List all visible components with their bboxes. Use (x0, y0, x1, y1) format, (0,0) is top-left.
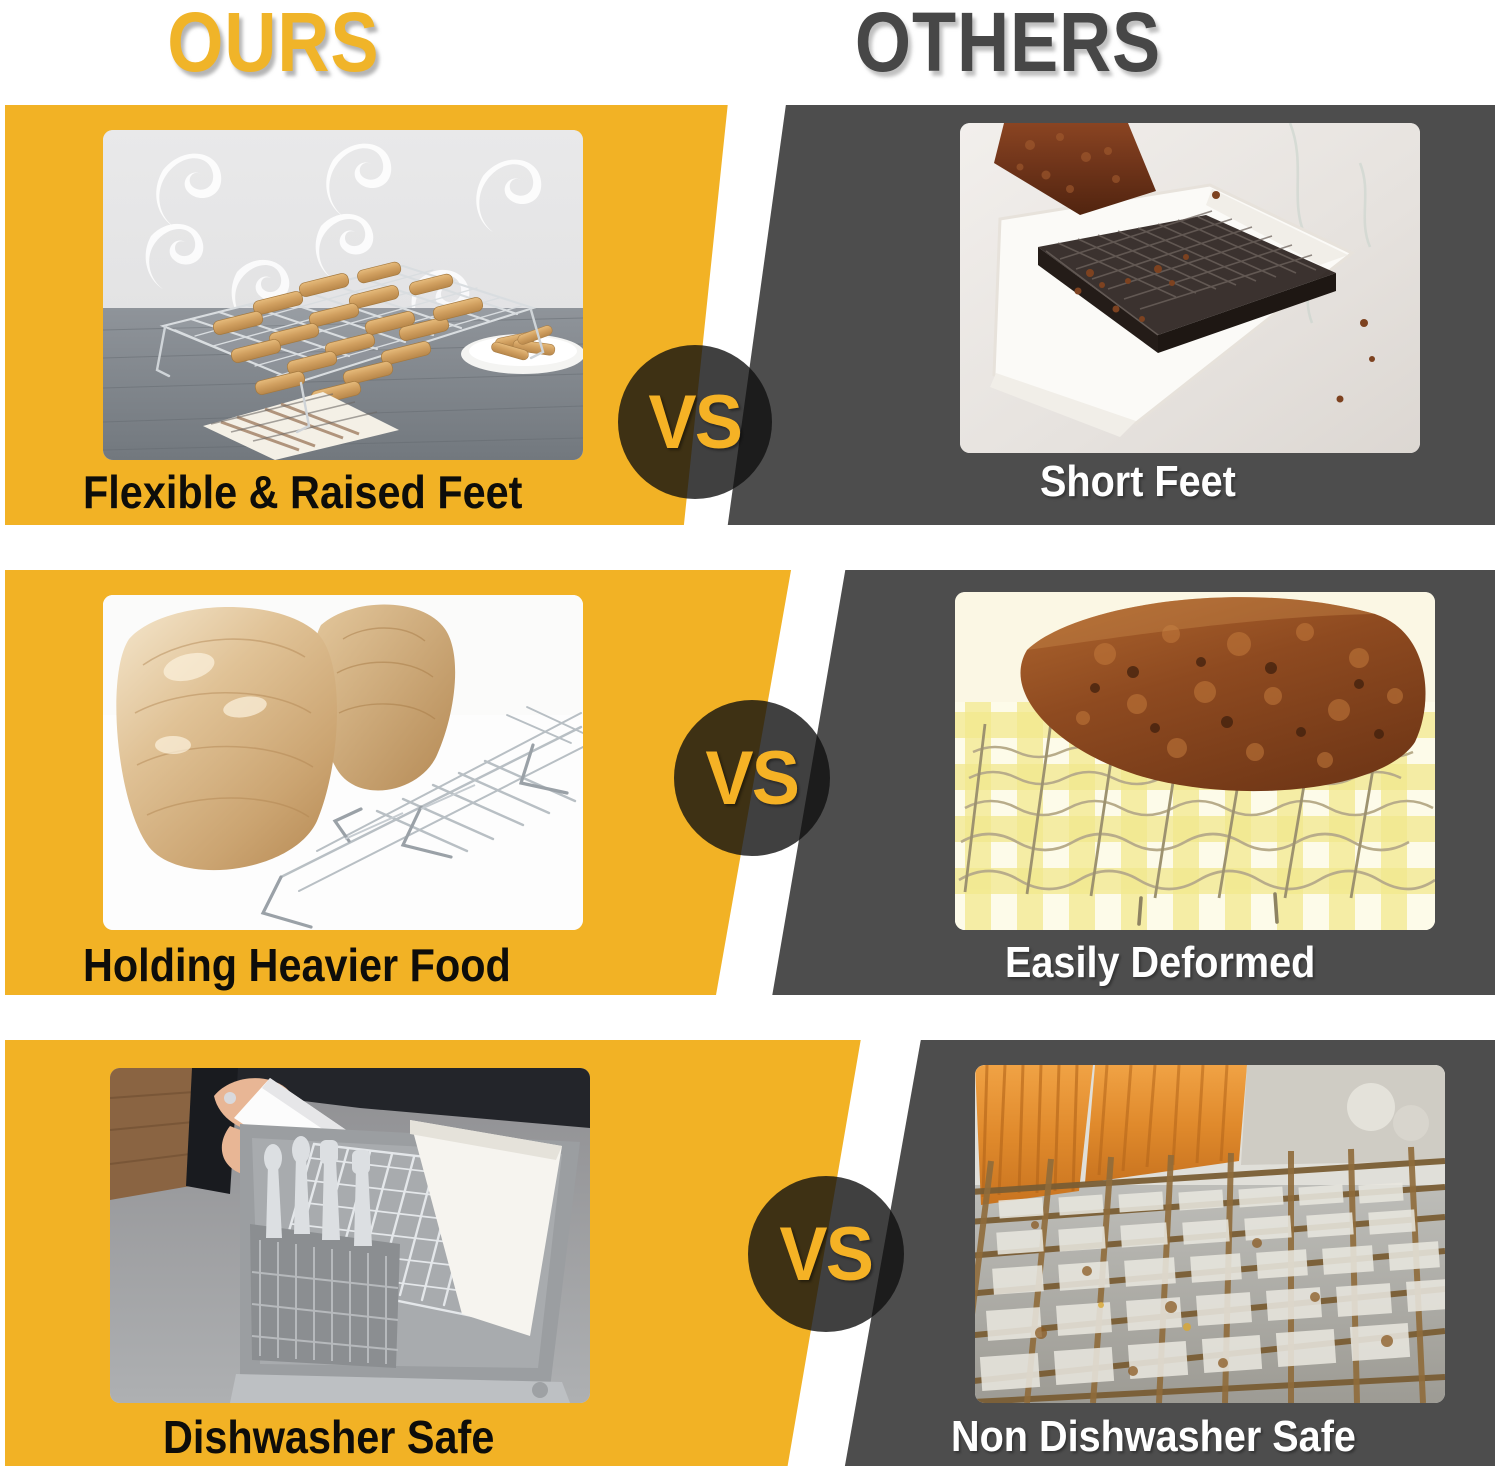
heavy-bread-on-rack-illustration (103, 595, 583, 930)
ours-caption-row-3: Dishwasher Safe (163, 1410, 494, 1464)
others-photo-row-3 (975, 1065, 1445, 1403)
ours-photo-row-3 (110, 1068, 590, 1403)
deformed-rack-illustration (955, 592, 1435, 930)
comparison-row-1: Flexible & Raised Feet (0, 105, 1500, 525)
dishwasher-loading-illustration (110, 1068, 590, 1403)
others-photo-row-1 (960, 123, 1420, 453)
rusty-rack-illustration (975, 1065, 1445, 1403)
vs-badge-label-row-1: VS (649, 379, 742, 466)
ours-panel-row-3: Dishwasher Safe (5, 1040, 865, 1466)
comparison-row-2: Holding Heavier Food (0, 570, 1500, 995)
comparison-infographic: OURS OTHERS (0, 0, 1500, 1466)
vs-badge-label-row-2: VS (706, 735, 799, 822)
vs-badge-row-2: VS (674, 700, 830, 856)
ours-caption-row-1: Flexible & Raised Feet (83, 465, 522, 519)
vs-badge-label-row-3: VS (780, 1211, 873, 1298)
cookies-on-rack-illustration (103, 130, 583, 460)
ours-panel-row-1: Flexible & Raised Feet (5, 105, 735, 525)
comparison-row-3: Dishwasher Safe (0, 1040, 1500, 1466)
vs-badge-row-3: VS (748, 1176, 904, 1332)
header: OURS OTHERS (0, 0, 1500, 100)
ours-caption-row-2: Holding Heavier Food (83, 938, 511, 992)
vs-badge-row-1: VS (618, 345, 772, 499)
others-caption-row-2: Easily Deformed (1005, 938, 1315, 988)
others-panel-row-2: Easily Deformed (765, 570, 1495, 995)
others-caption-row-3: Non Dishwasher Safe (951, 1412, 1356, 1462)
short-feet-rack-illustration (960, 123, 1420, 453)
header-others-title: OTHERS (855, 0, 1161, 92)
ours-photo-row-1 (103, 130, 583, 460)
others-photo-row-2 (955, 592, 1435, 930)
ours-photo-row-2 (103, 595, 583, 930)
others-panel-row-3: Non Dishwasher Safe (835, 1040, 1495, 1466)
others-caption-row-1: Short Feet (1040, 457, 1236, 507)
header-ours-title: OURS (167, 0, 379, 92)
others-panel-row-1: Short Feet (720, 105, 1495, 525)
